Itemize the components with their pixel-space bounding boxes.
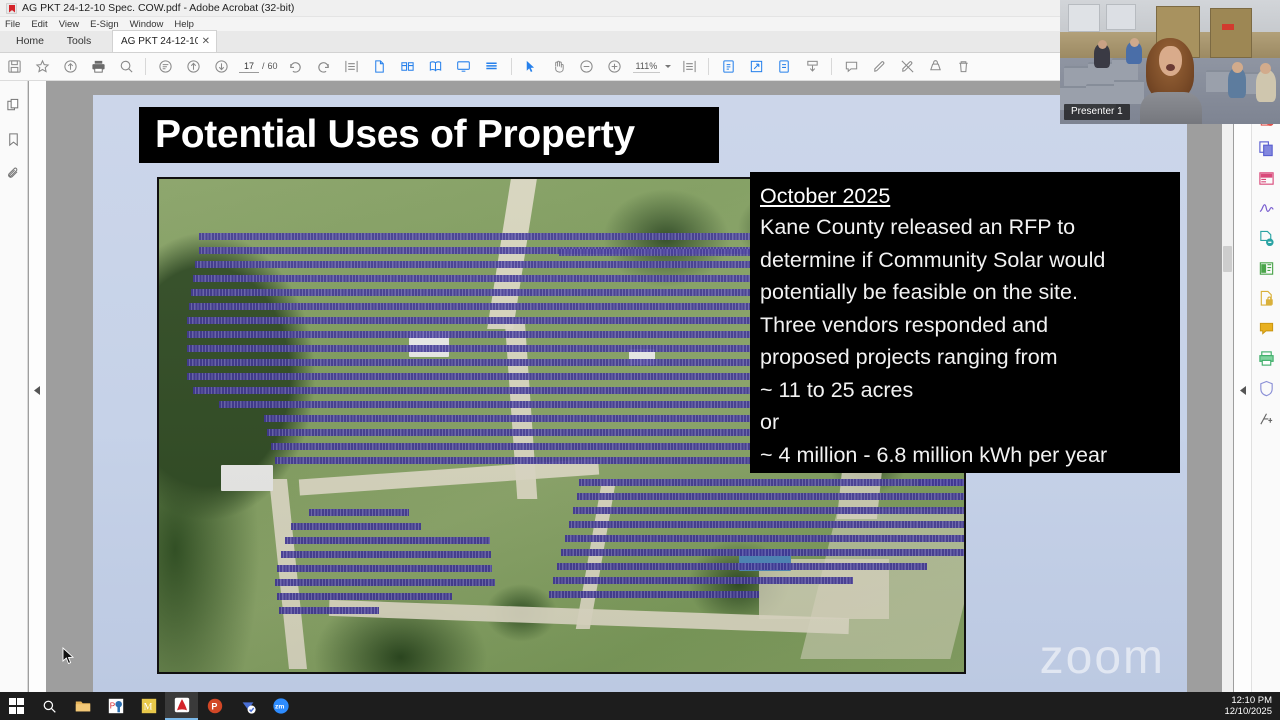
single-page-icon[interactable] bbox=[366, 53, 394, 81]
zoom-app-icon[interactable]: zm bbox=[264, 692, 297, 720]
chevron-down-icon[interactable] bbox=[665, 65, 671, 68]
audience-member-head bbox=[1130, 38, 1139, 47]
document-pane[interactable]: Potential Uses of Property bbox=[46, 81, 1234, 692]
solar-panel-row bbox=[279, 607, 379, 614]
video-door-2 bbox=[1210, 8, 1252, 58]
right-tools-rail bbox=[1251, 81, 1280, 692]
solar-panel-row bbox=[577, 493, 966, 500]
left-navigation-rail bbox=[0, 81, 28, 692]
combine-files-icon[interactable] bbox=[1257, 139, 1276, 158]
save-icon[interactable] bbox=[0, 53, 28, 81]
fit-page-icon[interactable] bbox=[151, 53, 179, 81]
callout-line: ~ 4 million - 6.8 million kWh per year bbox=[760, 439, 1166, 472]
solar-panel-row bbox=[264, 415, 764, 422]
taskbar-clock[interactable]: 12:10 PM 12/10/2025 bbox=[1224, 692, 1272, 720]
print-icon[interactable] bbox=[84, 53, 112, 81]
work-area: Potential Uses of Property bbox=[0, 81, 1280, 692]
stamp-icon[interactable] bbox=[921, 53, 949, 81]
page-thumbnails-icon[interactable] bbox=[5, 97, 22, 114]
callout-line: proposed projects ranging from bbox=[760, 341, 1166, 374]
close-icon[interactable]: ✕ bbox=[202, 36, 210, 47]
solar-panel-row bbox=[275, 457, 773, 464]
building-2 bbox=[221, 465, 273, 491]
solar-panel-row bbox=[569, 521, 966, 528]
toolbar-divider bbox=[145, 58, 146, 75]
page-navigation[interactable]: 17 / 60 bbox=[239, 61, 278, 73]
callout-line: Kane County released an RFP to bbox=[760, 211, 1166, 244]
delete-icon[interactable] bbox=[949, 53, 977, 81]
zoom-level-control[interactable]: 111% bbox=[633, 61, 672, 73]
menu-window[interactable]: Window bbox=[130, 19, 164, 30]
file-explorer-icon[interactable] bbox=[66, 692, 99, 720]
fit-visible-icon[interactable] bbox=[675, 53, 703, 81]
protect-icon[interactable] bbox=[1257, 289, 1276, 308]
page-separator: / bbox=[262, 61, 265, 71]
windows-start-icon[interactable] bbox=[0, 692, 33, 720]
menu-esign[interactable]: E-Sign bbox=[90, 19, 119, 30]
callout-line: determine if Community Solar would bbox=[760, 244, 1166, 277]
toolbar-divider-2 bbox=[511, 58, 512, 75]
solar-panel-row bbox=[277, 593, 452, 600]
audience-member bbox=[1256, 70, 1276, 102]
presenter-name-label: Presenter 1 bbox=[1064, 104, 1130, 120]
callout-line: ~ 11 to 25 acres bbox=[760, 374, 1166, 407]
add-to-favorites-icon[interactable] bbox=[28, 53, 56, 81]
svg-text:zm: zm bbox=[275, 704, 284, 711]
menu-edit[interactable]: Edit bbox=[31, 19, 47, 30]
solar-panel-row bbox=[281, 551, 491, 558]
mouse-cursor bbox=[62, 647, 76, 667]
callout-line: potentially be feasible on the site. bbox=[760, 276, 1166, 309]
two-page-view-icon[interactable] bbox=[422, 53, 450, 81]
solar-panel-row bbox=[275, 579, 495, 586]
window-title: AG PKT 24-12-10 Spec. COW.pdf - Adobe Ac… bbox=[22, 2, 294, 14]
solar-panel-row bbox=[559, 249, 769, 256]
solar-panel-row bbox=[561, 549, 966, 556]
collapse-right-panel-icon[interactable] bbox=[1239, 384, 1248, 396]
solar-panel-row bbox=[187, 373, 757, 380]
audience-member-head bbox=[1098, 40, 1107, 49]
fit-width-icon[interactable] bbox=[338, 53, 366, 81]
solar-panel-row bbox=[191, 289, 777, 296]
clock-time: 12:10 PM bbox=[1231, 695, 1272, 706]
presenter-mouth bbox=[1166, 64, 1175, 71]
tab-home[interactable]: Home bbox=[12, 35, 48, 52]
solar-panel-row bbox=[193, 275, 777, 282]
upload-cloud-icon[interactable] bbox=[56, 53, 84, 81]
video-window-2 bbox=[1106, 4, 1136, 30]
sign-icon[interactable] bbox=[1257, 199, 1276, 218]
solar-panel-row bbox=[277, 565, 492, 572]
solar-panel-row bbox=[549, 591, 759, 598]
select-tool-icon[interactable] bbox=[517, 53, 545, 81]
print-production-icon[interactable] bbox=[1257, 349, 1276, 368]
download-icon[interactable] bbox=[798, 53, 826, 81]
vertical-scrollbar-thumb[interactable] bbox=[1223, 246, 1232, 272]
solar-panel-row bbox=[565, 535, 966, 542]
solar-panel-row bbox=[219, 401, 759, 408]
svg-text:P: P bbox=[109, 702, 114, 711]
callout-heading: October 2025 bbox=[760, 184, 1166, 209]
video-window-1 bbox=[1068, 4, 1100, 32]
fill-and-sign-icon[interactable] bbox=[1257, 169, 1276, 188]
zoom-watermark: zoom bbox=[1040, 634, 1165, 682]
solar-panel-row bbox=[199, 233, 761, 240]
rotate-clockwise-icon[interactable] bbox=[282, 53, 310, 81]
protection-shield-icon[interactable] bbox=[1257, 379, 1276, 398]
menu-help[interactable]: Help bbox=[174, 19, 194, 30]
total-pages: 60 bbox=[268, 61, 278, 71]
zoom-level-value[interactable]: 111% bbox=[633, 61, 661, 73]
paint-app-icon[interactable]: P bbox=[99, 692, 132, 720]
zoom-out-icon[interactable] bbox=[573, 53, 601, 81]
svg-text:P: P bbox=[211, 702, 217, 712]
solar-panel-row bbox=[195, 261, 773, 268]
scrolling-mode-icon[interactable] bbox=[478, 53, 506, 81]
tab-tools[interactable]: Tools bbox=[62, 35, 96, 52]
solar-panel-row bbox=[267, 429, 769, 436]
previous-page-icon[interactable] bbox=[179, 53, 207, 81]
bookmarks-icon[interactable] bbox=[5, 131, 22, 148]
hand-tool-icon[interactable] bbox=[545, 53, 573, 81]
attachments-icon[interactable] bbox=[5, 165, 22, 182]
solar-panel-row bbox=[553, 577, 853, 584]
solar-panel-row bbox=[579, 479, 966, 486]
solar-panel-row bbox=[187, 317, 773, 324]
slide-title-banner: Potential Uses of Property bbox=[139, 107, 719, 163]
audience-chair bbox=[1114, 80, 1144, 104]
audience-member-head bbox=[1232, 62, 1243, 73]
taskbar-search-icon[interactable] bbox=[33, 692, 66, 720]
presenter-video-overlay[interactable]: Presenter 1 bbox=[1060, 0, 1280, 124]
clock-date: 12/10/2025 bbox=[1224, 706, 1272, 717]
pdf-slide-page: Potential Uses of Property bbox=[93, 95, 1187, 692]
menu-file[interactable]: File bbox=[5, 19, 20, 30]
organize-pages-icon[interactable] bbox=[770, 53, 798, 81]
solar-panel-row bbox=[271, 443, 771, 450]
toolbar-divider-4 bbox=[831, 58, 832, 75]
current-page-input[interactable]: 17 bbox=[239, 61, 259, 73]
comment-tool-icon[interactable] bbox=[1257, 319, 1276, 338]
toolbar-divider-3 bbox=[708, 58, 709, 75]
presentation-mode-icon[interactable] bbox=[450, 53, 478, 81]
solar-panel-row bbox=[187, 331, 769, 338]
solar-panel-row bbox=[187, 359, 761, 366]
page-title: Potential Uses of Property bbox=[155, 113, 635, 157]
exit-sign-icon bbox=[1222, 24, 1234, 30]
screen: AG PKT 24-12-10 Spec. COW.pdf - Adobe Ac… bbox=[0, 0, 1280, 720]
tab-document[interactable]: AG PKT 24-12-10 ... ✕ bbox=[112, 30, 217, 52]
redact-icon[interactable] bbox=[1257, 229, 1276, 248]
next-page-icon[interactable] bbox=[207, 53, 235, 81]
adobe-acrobat-icon[interactable] bbox=[165, 692, 198, 720]
export-pdf-icon[interactable] bbox=[714, 53, 742, 81]
zoom-in-icon[interactable] bbox=[601, 53, 629, 81]
svg-text:M: M bbox=[143, 702, 152, 713]
split-view-icon[interactable] bbox=[394, 53, 422, 81]
add-comment-icon[interactable] bbox=[837, 53, 865, 81]
compare-files-icon[interactable] bbox=[1257, 259, 1276, 278]
solar-panel-row bbox=[919, 479, 966, 486]
expand-icon[interactable] bbox=[742, 53, 770, 81]
solar-panel-row bbox=[189, 303, 777, 310]
search-icon[interactable] bbox=[112, 53, 140, 81]
accessibility-icon[interactable] bbox=[1257, 409, 1276, 428]
presenter-face bbox=[1159, 46, 1182, 76]
solar-panel-row bbox=[193, 387, 753, 394]
callout-line: or bbox=[760, 406, 1166, 439]
collapse-left-panel-icon[interactable] bbox=[33, 384, 42, 396]
presenter-body bbox=[1140, 92, 1202, 124]
solar-panel-row bbox=[309, 509, 409, 516]
acrobat-icon bbox=[6, 3, 17, 14]
mcafee-icon[interactable]: M bbox=[132, 692, 165, 720]
draw-freehand-icon[interactable] bbox=[893, 53, 921, 81]
tab-document-label: AG PKT 24-12-10 ... bbox=[121, 36, 198, 47]
solar-panel-row bbox=[291, 523, 421, 530]
solar-panel-row bbox=[285, 537, 490, 544]
rotate-counterclockwise-icon[interactable] bbox=[310, 53, 338, 81]
highlight-icon[interactable] bbox=[865, 53, 893, 81]
windows-taskbar: P M P zm 12:10 PM 12/10/2025 bbox=[0, 692, 1280, 720]
solar-panel-row bbox=[557, 563, 927, 570]
menu-view[interactable]: View bbox=[59, 19, 79, 30]
audience-member-head bbox=[1260, 63, 1271, 74]
vertical-scrollbar[interactable] bbox=[1222, 81, 1233, 692]
callout-line: Three vendors responded and bbox=[760, 309, 1166, 342]
powerpoint-icon[interactable]: P bbox=[198, 692, 231, 720]
onedrive-sync-icon[interactable] bbox=[231, 692, 264, 720]
solar-panel-row bbox=[187, 345, 765, 352]
callout-text-box: October 2025 Kane County released an RFP… bbox=[750, 172, 1180, 473]
solar-panel-row bbox=[573, 507, 966, 514]
